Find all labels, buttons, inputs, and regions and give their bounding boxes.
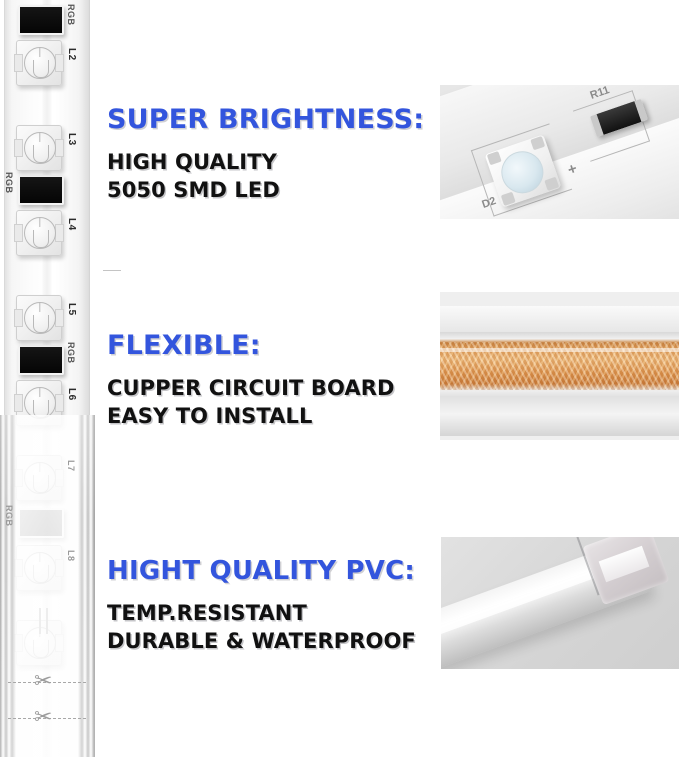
pvc-bottom-wall xyxy=(440,396,679,436)
led-label-l8: L8 xyxy=(66,550,76,562)
led-label-l2: L2 xyxy=(66,48,77,61)
feature-line-2: DURABLE & WATERPROOF xyxy=(107,628,437,656)
smd-pad xyxy=(544,177,559,191)
led-label-l3: L3 xyxy=(66,133,77,146)
photo-5050-smd-led-macro: R11 D2 + xyxy=(440,85,679,219)
feature-heading: FLEXIBLE: xyxy=(107,330,437,361)
feature-text-high-quality-pvc: HIGHT QUALITY PVC: TEMP.RESISTANT DURABL… xyxy=(107,556,437,655)
led-dome-icon xyxy=(24,217,56,249)
rgb-label: RGB xyxy=(4,172,14,194)
section-divider xyxy=(103,270,121,271)
cut-mark: ✂ xyxy=(8,708,86,730)
led-pad-left xyxy=(14,139,23,157)
led-pad-right xyxy=(55,394,64,412)
photo-copper-circuit-board xyxy=(440,292,679,440)
feature-text-super-brightness: SUPER BRIGHTNESS: HIGH QUALITY 5050 SMD … xyxy=(107,104,437,204)
rgb-label: RGB xyxy=(4,505,14,527)
led-chip-l3 xyxy=(16,125,62,171)
smd-emitter xyxy=(496,146,549,199)
led-pad-right xyxy=(55,54,64,72)
led-pad-left xyxy=(14,224,23,242)
feature-heading: SUPER BRIGHTNESS: xyxy=(107,104,437,135)
feature-line-2: 5050 SMD LED xyxy=(107,177,437,205)
led-label-l7: L7 xyxy=(66,460,76,472)
rgb-label: RGB xyxy=(66,342,76,364)
led-pad-right xyxy=(55,224,64,242)
copper-braid-core xyxy=(440,332,679,400)
feature-heading: HIGHT QUALITY PVC: xyxy=(107,556,437,586)
scissors-icon: ✂ xyxy=(34,670,52,692)
led-chip-l2 xyxy=(16,40,62,86)
rgb-label: RGB xyxy=(66,4,76,26)
led-strip-column: RGB RGB RGB L2 L3 L4 L5 xyxy=(0,0,95,757)
led-chip-l5 xyxy=(16,295,62,341)
feature-line-1: CUPPER CIRCUIT BOARD xyxy=(107,375,437,403)
scissors-icon: ✂ xyxy=(34,706,52,728)
feature-line-2: EASY TO INSTALL xyxy=(107,403,437,431)
led-label-l6: L6 xyxy=(66,388,77,401)
feature-line-1: TEMP.RESISTANT xyxy=(107,600,437,628)
led-pad-left xyxy=(14,54,23,72)
photo-clear-pvc-sleeve xyxy=(441,537,679,669)
led-pad-left xyxy=(14,394,23,412)
smd-pad xyxy=(487,151,502,165)
smd-pad xyxy=(501,192,516,206)
specular-highlight xyxy=(440,348,679,352)
led-dome-icon xyxy=(24,302,56,334)
rgb-resistor-chip xyxy=(18,5,64,35)
led-chip-l4 xyxy=(16,210,62,256)
smd-pad xyxy=(530,136,545,150)
rgb-resistor-chip xyxy=(18,345,64,375)
feature-line-1: HIGH QUALITY xyxy=(107,149,437,177)
led-dome-icon xyxy=(24,47,56,79)
cut-mark: ✂ xyxy=(8,672,86,694)
rgb-resistor-chip xyxy=(18,175,64,205)
led-pad-right xyxy=(55,139,64,157)
led-pad-left xyxy=(14,309,23,327)
product-infographic: RGB RGB RGB L2 L3 L4 L5 xyxy=(0,0,679,757)
led-pad-right xyxy=(55,309,64,327)
led-label-l4: L4 xyxy=(66,218,77,231)
feature-text-flexible: FLEXIBLE: CUPPER CIRCUIT BOARD EASY TO I… xyxy=(107,330,437,430)
led-label-l5: L5 xyxy=(66,303,77,316)
led-dome-icon xyxy=(24,132,56,164)
